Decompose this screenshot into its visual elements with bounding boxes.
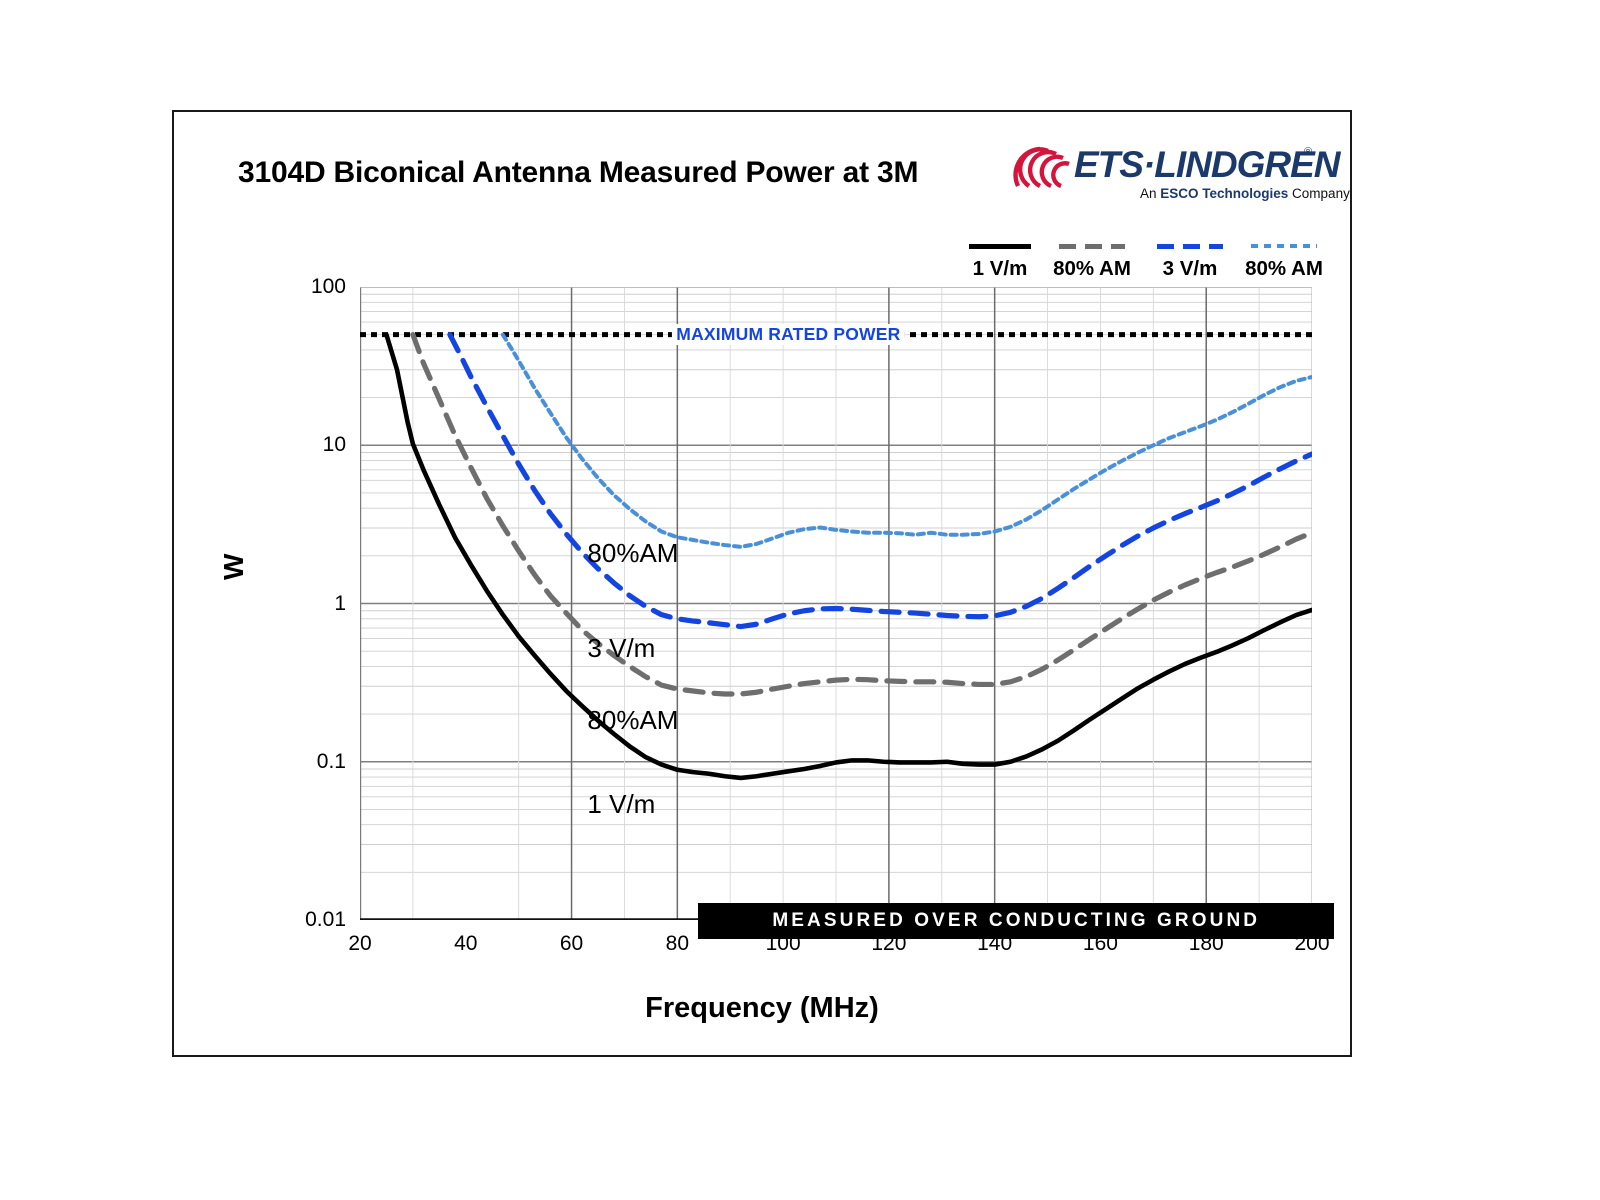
legend-swatch-2 (1146, 240, 1234, 252)
legend-swatch-3 (1240, 240, 1328, 252)
logo-tagline-suffix: Company (1288, 186, 1350, 201)
logo-registered-mark: ® (1304, 146, 1312, 158)
legend-item-1[interactable]: 80% AM (1048, 240, 1136, 281)
curve-annotation-0: 80%AM (587, 538, 678, 569)
legend-label-0: 1 V/m (956, 257, 1044, 281)
max-rated-power-label: MAXIMUM RATED POWER (672, 324, 904, 345)
curve-annotation-3: 1 V/m (587, 789, 655, 820)
legend-swatch-0 (956, 240, 1044, 252)
x-tick-label: 60 (560, 932, 583, 956)
legend-label-2: 3 V/m (1146, 257, 1234, 281)
curve-annotation-2: 80%AM (587, 705, 678, 736)
legend-label-1: 80% AM (1048, 257, 1136, 281)
legend-label-3: 80% AM (1240, 257, 1328, 281)
ets-lindgren-logo: ETS·LINDGREN ® An ESCO Technologies Comp… (1012, 144, 1324, 210)
legend-item-3[interactable]: 80% AM (1240, 240, 1328, 281)
logo-tagline-prefix: An (1140, 186, 1160, 201)
y-tick-label: 1 (226, 592, 346, 616)
figure-frame: 3104D Biconical Antenna Measured Power a… (172, 110, 1352, 1057)
legend-item-0[interactable]: 1 V/m (956, 240, 1044, 281)
logo-tagline-brand: ESCO Technologies (1160, 186, 1288, 201)
logo-wave-icon (1012, 146, 1072, 188)
y-tick-label: 0.1 (226, 750, 346, 774)
y-tick-label: 0.01 (226, 908, 346, 932)
legend-swatch-1 (1048, 240, 1136, 252)
chart-figure: 3104D Biconical Antenna Measured Power a… (0, 0, 1600, 1200)
y-tick-label: 100 (226, 275, 346, 299)
y-tick-label: 10 (226, 433, 346, 457)
chart-legend: 1 V/m80% AM3 V/m80% AM (956, 240, 1332, 288)
x-axis-title: Frequency (MHz) (174, 992, 1350, 1025)
x-tick-label: 20 (348, 932, 371, 956)
x-tick-label: 80 (666, 932, 689, 956)
ground-banner: MEASURED OVER CONDUCTING GROUND (698, 903, 1334, 939)
page-title: 3104D Biconical Antenna Measured Power a… (238, 156, 918, 190)
y-axis-title: W (218, 554, 250, 580)
curve-annotation-1: 3 V/m (587, 633, 655, 664)
plot-canvas (360, 287, 1312, 920)
logo-tagline: An ESCO Technologies Company (1140, 186, 1350, 201)
plot-area: 0.010.1110100204060801001201401601802008… (360, 287, 1312, 920)
x-tick-label: 40 (454, 932, 477, 956)
logo-wordmark: ETS·LINDGREN (1074, 144, 1340, 186)
legend-item-2[interactable]: 3 V/m (1146, 240, 1234, 281)
